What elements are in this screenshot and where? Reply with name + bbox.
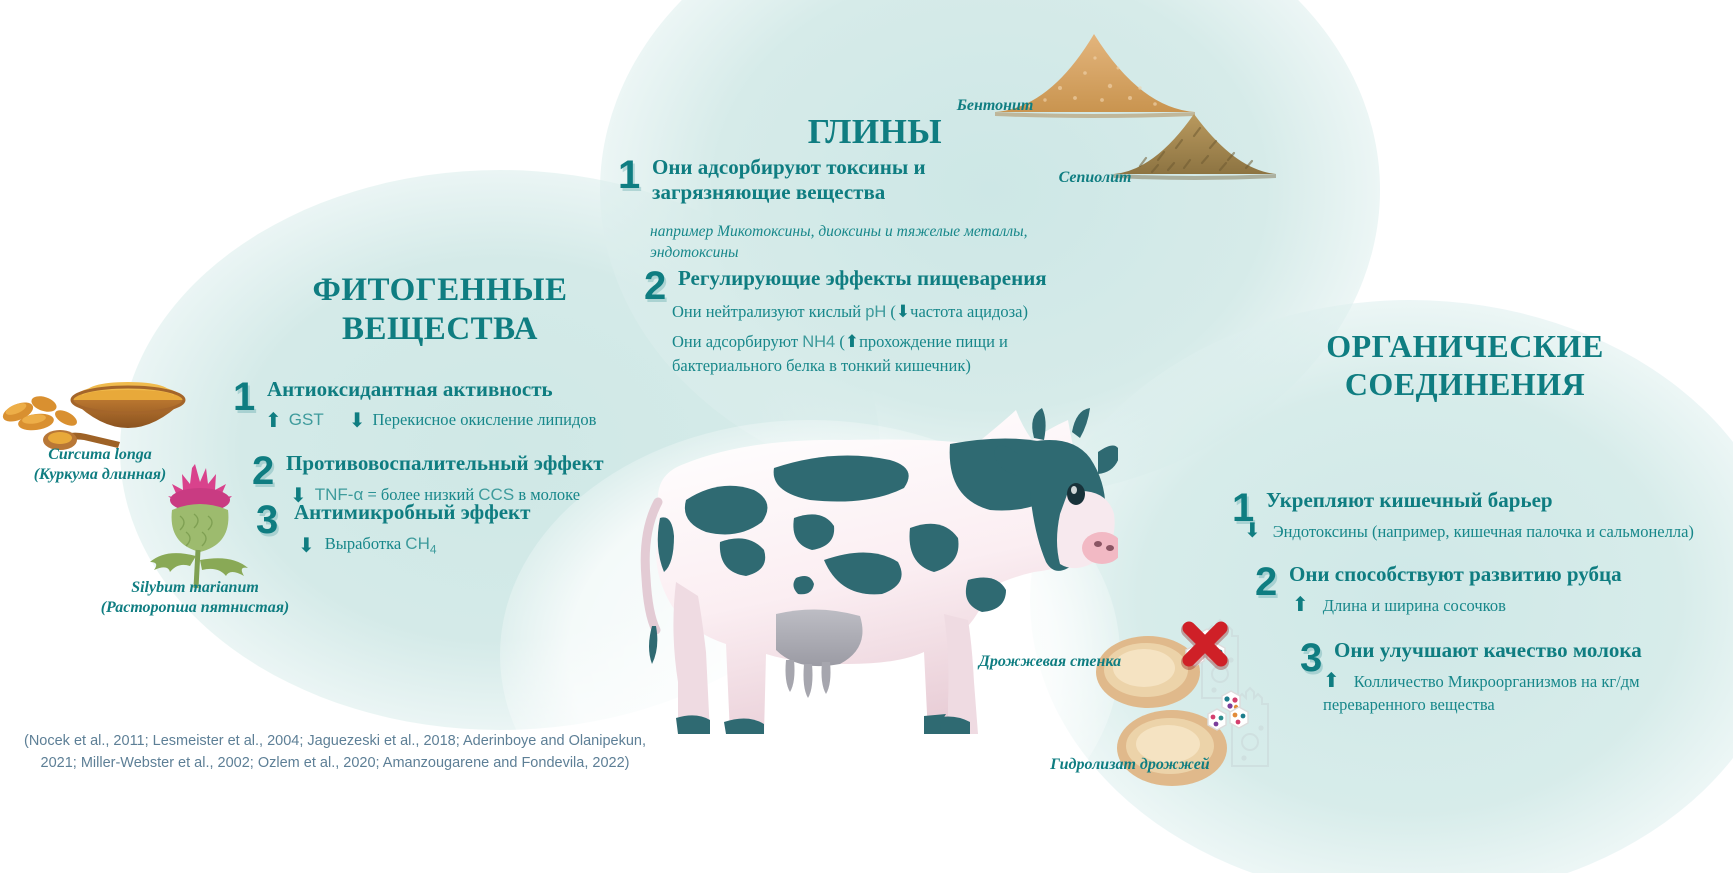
clays-item-2-bullet-2: Они адсорбируют NH4 (⬆прохождение пищи и… <box>672 330 1022 378</box>
clays-item-1-heading: Они адсорбируют токсины и загрязняющие в… <box>652 155 952 205</box>
silybum-caption-ru: (Расторопша пятнистая) <box>70 598 320 618</box>
milk-thistle-icon <box>120 460 270 590</box>
clays-bullet1-pre: Они нейтрализуют кислый <box>672 302 865 321</box>
organics-item-3-note: ⬆Колличество Микроорганизмов на кг/дм пе… <box>1323 670 1723 717</box>
arrow-down-icon: ⬇ <box>298 535 315 555</box>
clays-bullet1-post: частота ацидоза) <box>910 302 1028 321</box>
clays-item-1: 1 Они адсорбируют токсины и загрязняющие… <box>618 155 1068 205</box>
clays-bullet1-mid: ( <box>886 302 896 321</box>
organics-title-line1: ОРГАНИЧЕСКИЕ <box>1255 330 1675 364</box>
organics-item-1-heading: Укрепляют кишечный барьер <box>1266 488 1686 513</box>
organics-item-2-heading: Они способствуют развитию рубца <box>1289 562 1719 587</box>
arrow-down-icon: ⬇ <box>349 410 366 430</box>
organics-item-3-note-text: Колличество Микроорганизмов на кг/дм пер… <box>1323 672 1640 714</box>
references-line-1: (Nocek et al., 2011; Lesmeister et al., … <box>20 730 650 752</box>
clays-title: ГЛИНЫ <box>640 113 1110 150</box>
yeast-hydrolysate-illustration <box>1110 680 1300 800</box>
clays-bullet1-code: pH <box>865 303 886 321</box>
organics-item-3-heading: Они улучшают качество молока <box>1334 638 1733 663</box>
arrow-up-icon: ⬆ <box>1292 592 1309 616</box>
clays-item-2-heading: Регулирующие эффекты пищеварения <box>678 266 1098 291</box>
phytogenic-title-line2: ВЕЩЕСТВА <box>225 312 655 347</box>
arrow-up-icon: ⬆ <box>1323 668 1340 692</box>
clays-item-2-bullet-1: Они нейтрализуют кислый pH (⬇частота аци… <box>672 300 1072 324</box>
phyto-lipid-label: Перекисное окисление липидов <box>372 408 596 431</box>
phytogenic-title-line1: ФИТОГЕННЫЕ <box>225 273 655 308</box>
organics-item-1-note-text: Эндотоксины (например, кишечная палочка … <box>1273 522 1694 541</box>
organics-item-2-number: 2 <box>1255 562 1289 602</box>
organics-item-2-note: ⬆Длина и ширина сосочков <box>1292 594 1722 617</box>
phyto-ch4-text: Выработка <box>325 534 406 553</box>
references-line-2: 2021; Miller-Webster et al., 2002; Ozlem… <box>20 752 650 774</box>
arrow-down-icon: ⬇ <box>896 302 910 322</box>
dairy-cow-illustration <box>598 382 1118 782</box>
arrow-up-icon: ⬆ <box>845 332 859 352</box>
phyto-item-1-number: 1 <box>233 377 267 417</box>
silybum-caption-latin: Silybum marianum <box>70 578 320 598</box>
phyto-ch4-sub: 4 <box>430 542 437 556</box>
infographic-canvas: Бентонит Сепиолит ГЛИНЫ 1 Они адсорбирую… <box>0 0 1733 873</box>
clays-item-1-note: например Микотоксины, диоксины и тяжелые… <box>650 222 1050 264</box>
arrow-down-icon: ⬇ <box>1244 518 1261 542</box>
phyto-item-1-heading: Антиоксидантная активность <box>267 377 647 402</box>
yeast-hydrolysate-caption: Гидролизат дрожжей <box>1000 755 1260 775</box>
clays-item-1-number: 1 <box>618 155 652 195</box>
organics-item-1-note: ⬇Эндотоксины (например, кишечная палочка… <box>1244 520 1714 543</box>
organics-item-2-note-text: Длина и ширина сосочков <box>1323 596 1506 615</box>
references-block: (Nocek et al., 2011; Lesmeister et al., … <box>20 730 650 775</box>
arrow-up-icon: ⬆ <box>265 410 282 430</box>
phyto-ch4-label: CH <box>405 534 430 553</box>
clays-bullet2-code: NH4 <box>802 333 835 351</box>
clays-bullet2-mid: ( <box>835 332 845 351</box>
clays-bullet2-pre: Они адсорбируют <box>672 332 802 351</box>
organics-title-line2: СОЕДИНЕНИЯ <box>1255 368 1675 402</box>
yeast-wall-caption: Дрожжевая стенка <box>920 652 1180 672</box>
phyto-gst-label: GST <box>289 408 324 432</box>
